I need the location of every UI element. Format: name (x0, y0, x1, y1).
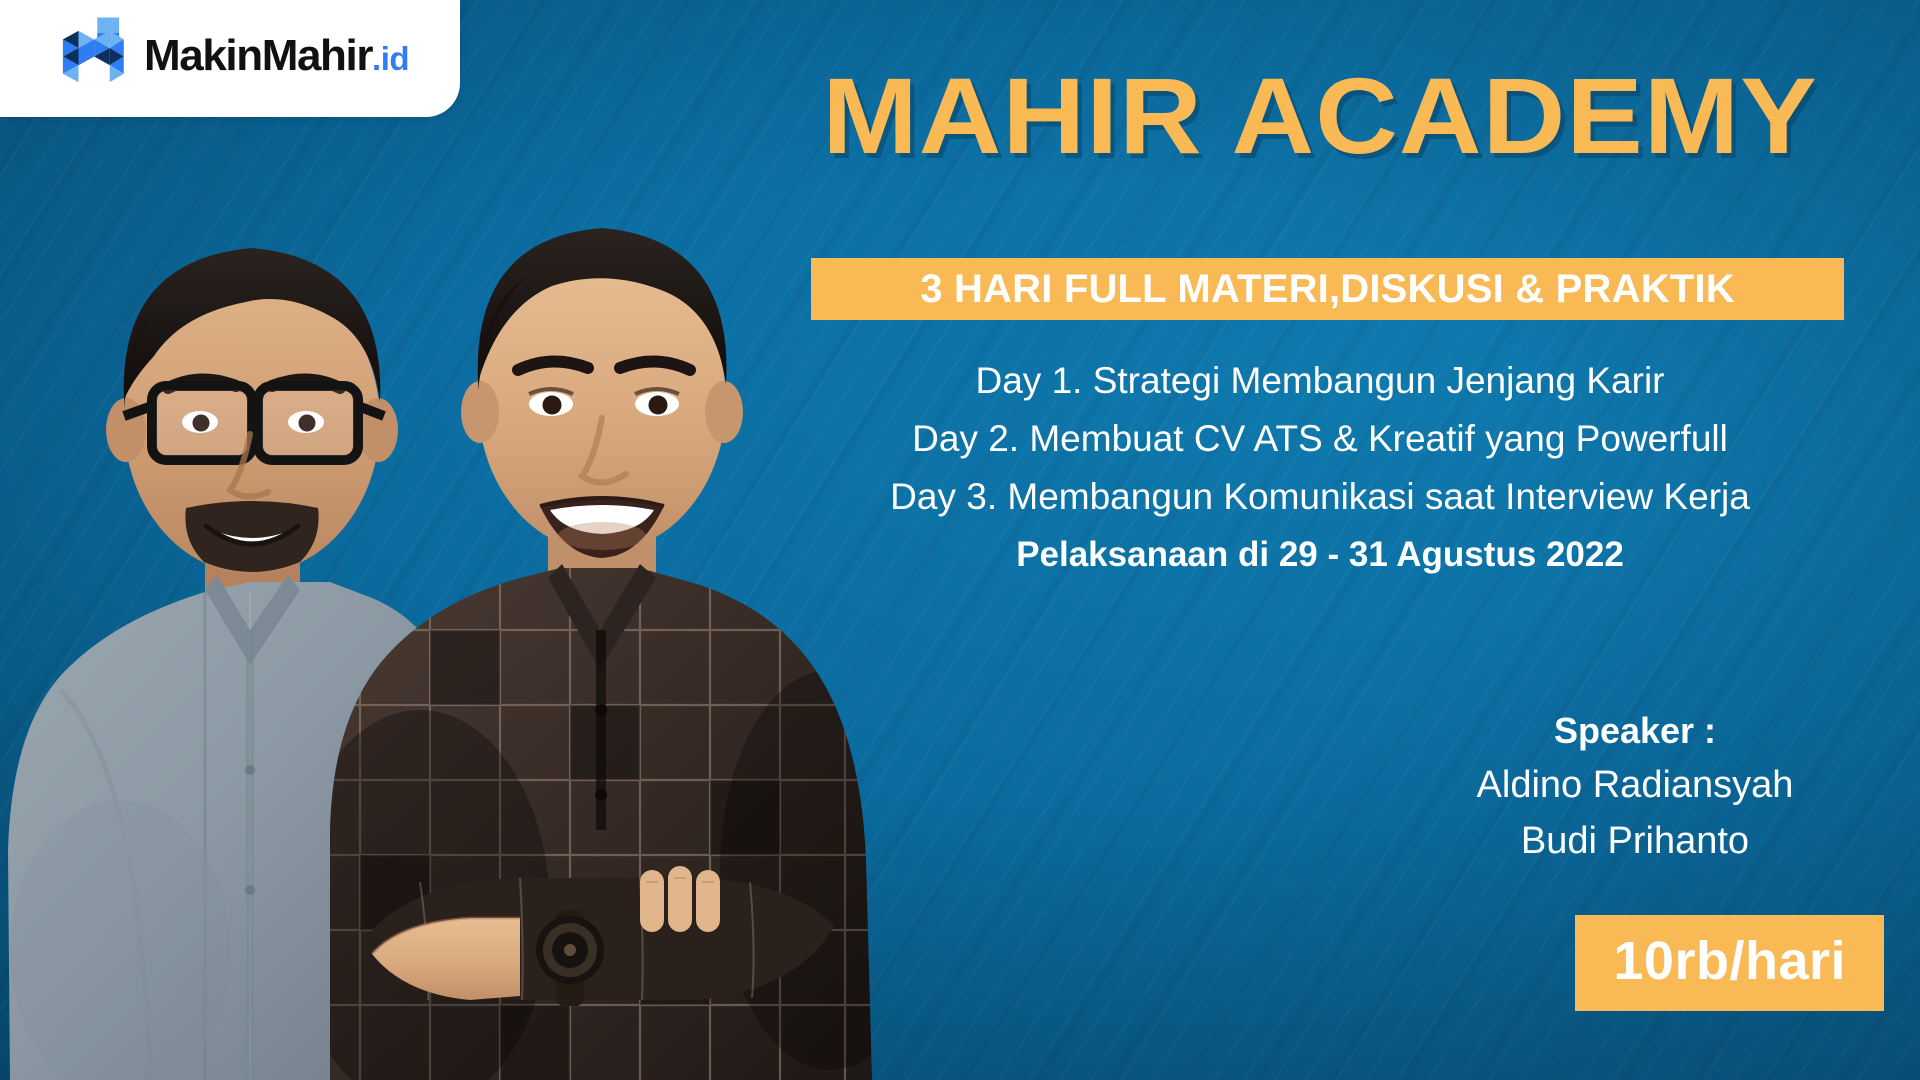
list-item: Day 3. Membangun Komunikasi saat Intervi… (760, 468, 1880, 526)
speaker-name: Aldino Radiansyah (1385, 757, 1885, 813)
subtitle-banner: 3 HARI FULL MATERI,DISKUSI & PRAKTIK (811, 258, 1844, 320)
speaker-label: Speaker : (1385, 705, 1885, 757)
speaker-block: Speaker : Aldino Radiansyah Budi Prihant… (1385, 705, 1885, 869)
page-title: MAHIR ACADEMY (726, 62, 1913, 170)
speaker-name: Budi Prihanto (1385, 813, 1885, 869)
price-badge-text: 10rb/hari (1613, 931, 1846, 991)
list-item: Day 1. Strategi Membangun Jenjang Karir (760, 352, 1880, 410)
promo-poster: MakinMahir.id (0, 0, 1920, 1080)
agenda-list: Day 1. Strategi Membangun Jenjang Karir … (760, 352, 1880, 526)
price-badge: 10rb/hari (1575, 915, 1884, 1011)
list-item: Day 2. Membuat CV ATS & Kreatif yang Pow… (760, 410, 1880, 468)
schedule-date: Pelaksanaan di 29 - 31 Agustus 2022 (760, 535, 1880, 575)
poster-content: MAHIR ACADEMY 3 HARI FULL MATERI,DISKUSI… (760, 0, 1920, 1080)
subtitle-banner-text: 3 HARI FULL MATERI,DISKUSI & PRAKTIK (920, 267, 1735, 312)
